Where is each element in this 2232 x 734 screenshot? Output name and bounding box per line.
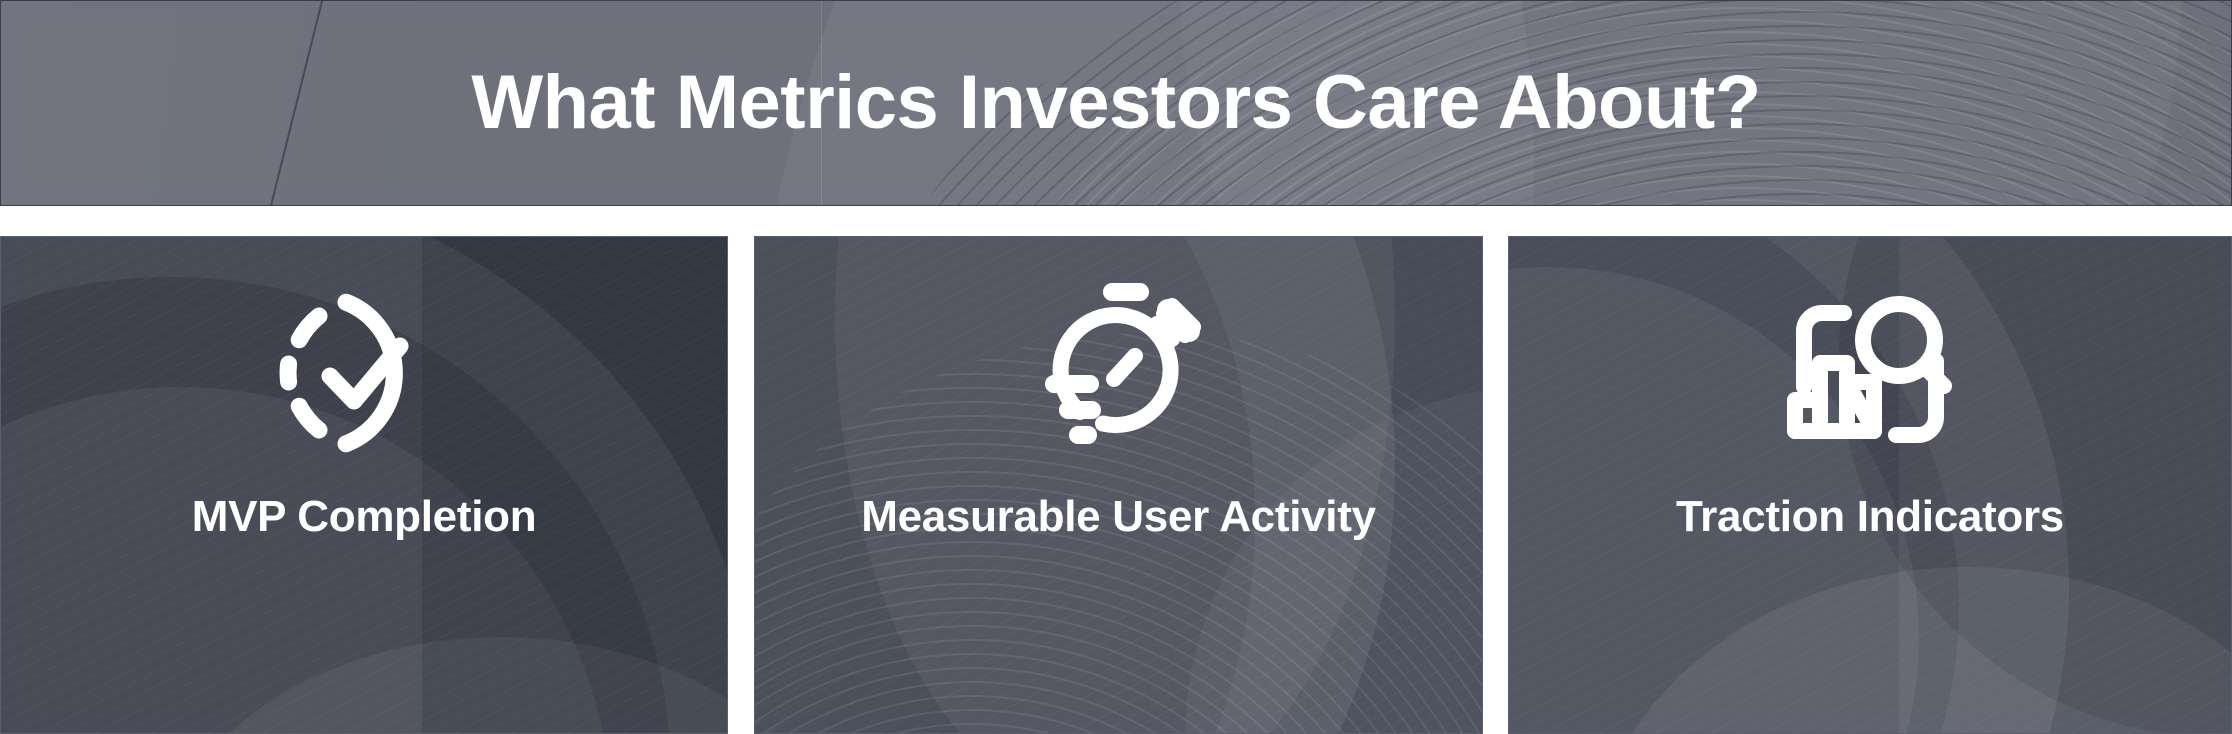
metric-card-mvp-completion[interactable]: MVP Completion <box>0 236 728 734</box>
slide-root: What Metrics Investors Care About? <box>0 0 2232 734</box>
card-gap <box>1483 236 1508 734</box>
card-gap <box>728 236 754 734</box>
page-title: What Metrics Investors Care About? <box>1 65 2231 141</box>
metric-cards-row: MVP Completion <box>0 236 2232 734</box>
metric-card-label: MVP Completion <box>192 493 537 541</box>
dashed-circle-check-icon <box>264 273 464 473</box>
slide-header: What Metrics Investors Care About? <box>0 0 2232 206</box>
stopwatch-speed-icon <box>1019 273 1219 473</box>
metric-card-label: Traction Indicators <box>1676 493 2064 541</box>
magnifier-bar-chart-scan-icon <box>1770 273 1970 473</box>
metric-card-measurable-user-activity[interactable]: Measurable User Activity <box>754 236 1483 734</box>
metric-card-label: Measurable User Activity <box>861 493 1376 541</box>
metric-card-traction-indicators[interactable]: Traction Indicators <box>1508 236 2232 734</box>
